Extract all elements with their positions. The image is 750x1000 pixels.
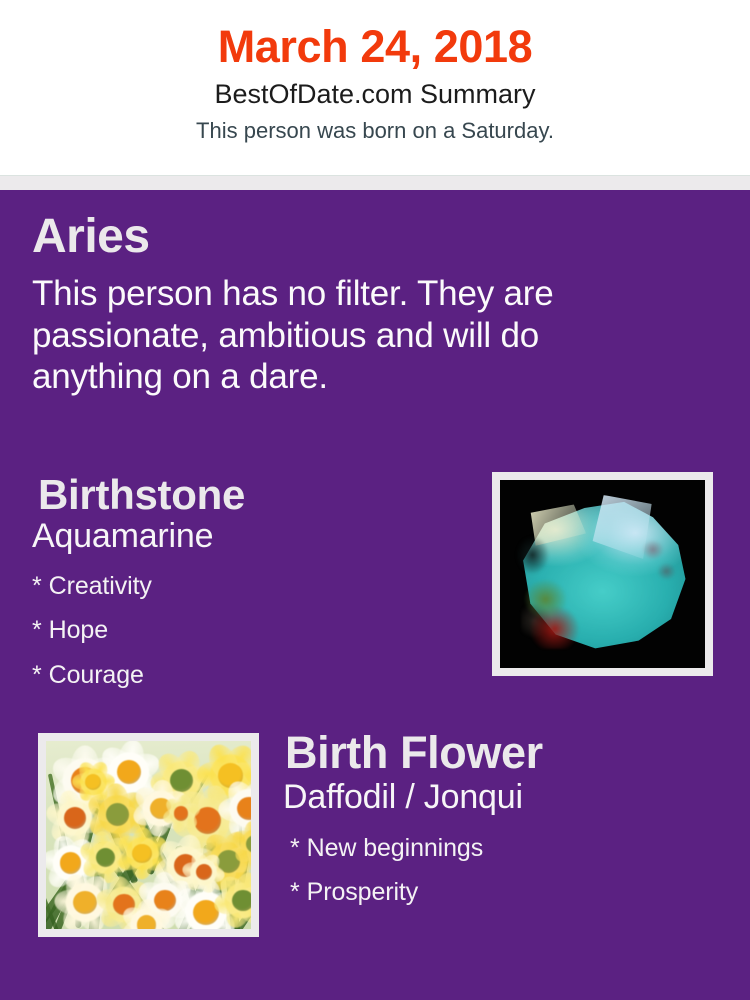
list-item-label: Courage — [49, 661, 144, 689]
birthflower-text-group: Birth Flower Daffodil / Jonqui *New begi… — [283, 729, 723, 915]
birthstone-section: Birthstone Aquamarine *Creativity *Hope … — [0, 472, 750, 687]
bullet-star-icon: * — [32, 661, 42, 689]
daffodil-corona — [232, 890, 251, 911]
crystal-surface-spots — [635, 536, 680, 592]
list-item: *Creativity — [32, 564, 462, 609]
list-item-label: Prosperity — [307, 878, 419, 906]
summary-card: March 24, 2018 BestOfDate.com Summary Th… — [0, 0, 750, 1000]
zodiac-section: Aries This person has no filter. They ar… — [32, 212, 692, 397]
list-item: *New beginnings — [290, 826, 723, 871]
list-item-label: Creativity — [49, 572, 152, 600]
list-item-label: Hope — [49, 616, 108, 644]
bullet-star-icon: * — [32, 616, 42, 644]
birthflower-heading: Birth Flower — [283, 729, 723, 778]
daffodil-corona — [73, 891, 96, 914]
birthflower-image — [46, 741, 251, 929]
born-day-text: This person was born on a Saturday. — [0, 117, 750, 145]
site-name: BestOfDate.com Summary — [0, 77, 750, 112]
zodiac-sign-name: Aries — [32, 212, 692, 262]
birthstone-name: Aquamarine — [32, 518, 462, 555]
bullet-star-icon: * — [32, 572, 42, 600]
birthflower-traits-list: *New beginnings *Prosperity — [283, 826, 723, 915]
daffodil-corona — [137, 915, 157, 929]
list-item: *Hope — [32, 608, 462, 653]
daffodil-corona — [85, 774, 101, 790]
birthstone-image-frame — [492, 472, 713, 676]
content-area: Aries This person has no filter. They ar… — [0, 190, 750, 1000]
crystal-red-inclusion — [521, 578, 583, 649]
crystal-dark-inclusion — [516, 536, 549, 574]
birthstone-traits-list: *Creativity *Hope *Courage — [32, 564, 462, 698]
bullet-star-icon: * — [290, 878, 300, 906]
birthflower-image-frame — [38, 733, 259, 937]
daffodil-corona — [196, 864, 212, 880]
list-item-label: New beginnings — [307, 834, 484, 862]
list-item: *Prosperity — [290, 870, 723, 915]
bullet-star-icon: * — [290, 834, 300, 862]
page-title-date: March 24, 2018 — [0, 22, 750, 72]
birthstone-image — [500, 480, 705, 668]
zodiac-description: This person has no filter. They are pass… — [32, 273, 652, 397]
header-divider-band — [0, 176, 750, 190]
header: March 24, 2018 BestOfDate.com Summary Th… — [0, 0, 750, 175]
birthflower-name: Daffodil / Jonqui — [283, 779, 723, 816]
daffodil-corona — [60, 852, 82, 873]
birthstone-text-group: Birthstone Aquamarine *Creativity *Hope … — [32, 472, 462, 697]
list-item: *Courage — [32, 653, 462, 698]
daffodil-bloom — [165, 797, 198, 829]
daffodil-corona — [64, 807, 86, 828]
birthflower-section: Birth Flower Daffodil / Jonqui *New begi… — [0, 733, 750, 948]
birthstone-heading: Birthstone — [32, 472, 462, 517]
daffodil-bloom — [75, 764, 112, 801]
